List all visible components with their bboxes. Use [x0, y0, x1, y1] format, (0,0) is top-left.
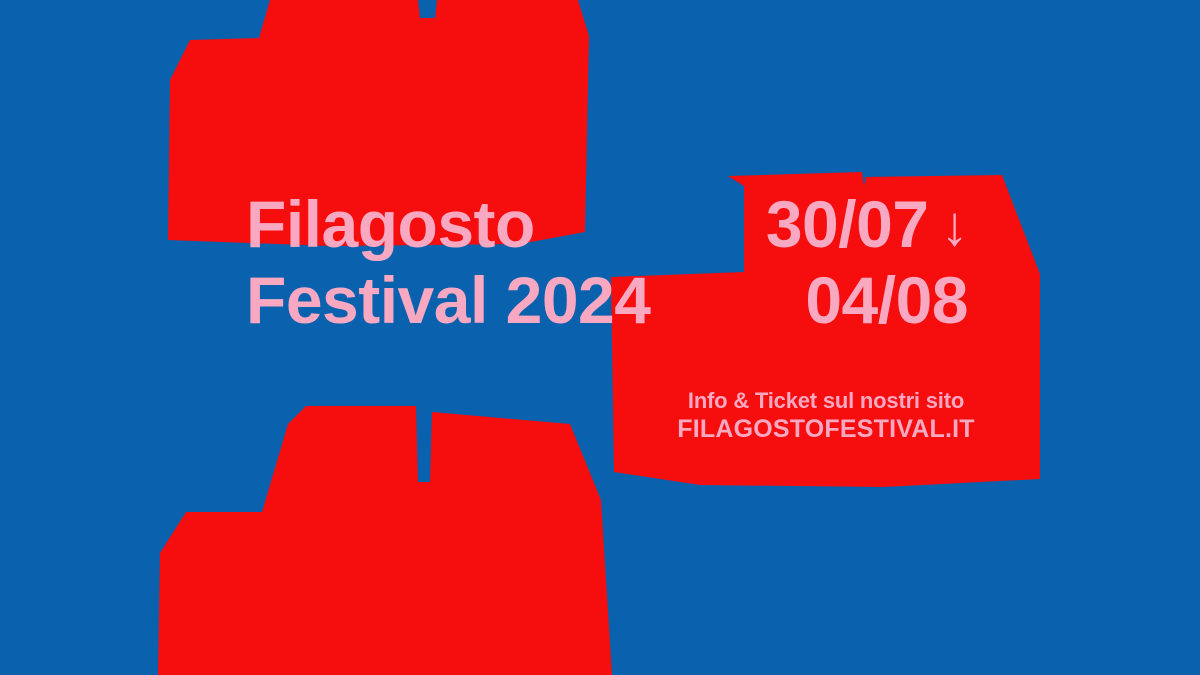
poster-canvas: Filagosto Festival 2024 30/07↓ 04/08 Inf…: [0, 0, 1200, 675]
website-url[interactable]: FILAGOSTOFESTIVAL.IT: [611, 414, 1041, 444]
date-start: 30/07: [766, 187, 929, 261]
wordmark-line-1: Filagosto: [246, 186, 650, 262]
date-end-row: 04/08: [694, 262, 968, 338]
info-ticket-block: Info & Ticket sul nostri sito FILAGOSTOF…: [611, 388, 1041, 444]
date-start-row: 30/07↓: [694, 186, 968, 262]
festival-dates: 30/07↓ 04/08: [694, 186, 968, 338]
festival-wordmark: Filagosto Festival 2024: [246, 186, 650, 338]
arrow-down-icon: ↓: [941, 193, 969, 259]
date-end: 04/08: [805, 263, 968, 337]
wordmark-line-2: Festival 2024: [246, 262, 650, 338]
text-layer: Filagosto Festival 2024 30/07↓ 04/08 Inf…: [0, 0, 1200, 675]
info-tagline: Info & Ticket sul nostri sito: [611, 388, 1041, 414]
